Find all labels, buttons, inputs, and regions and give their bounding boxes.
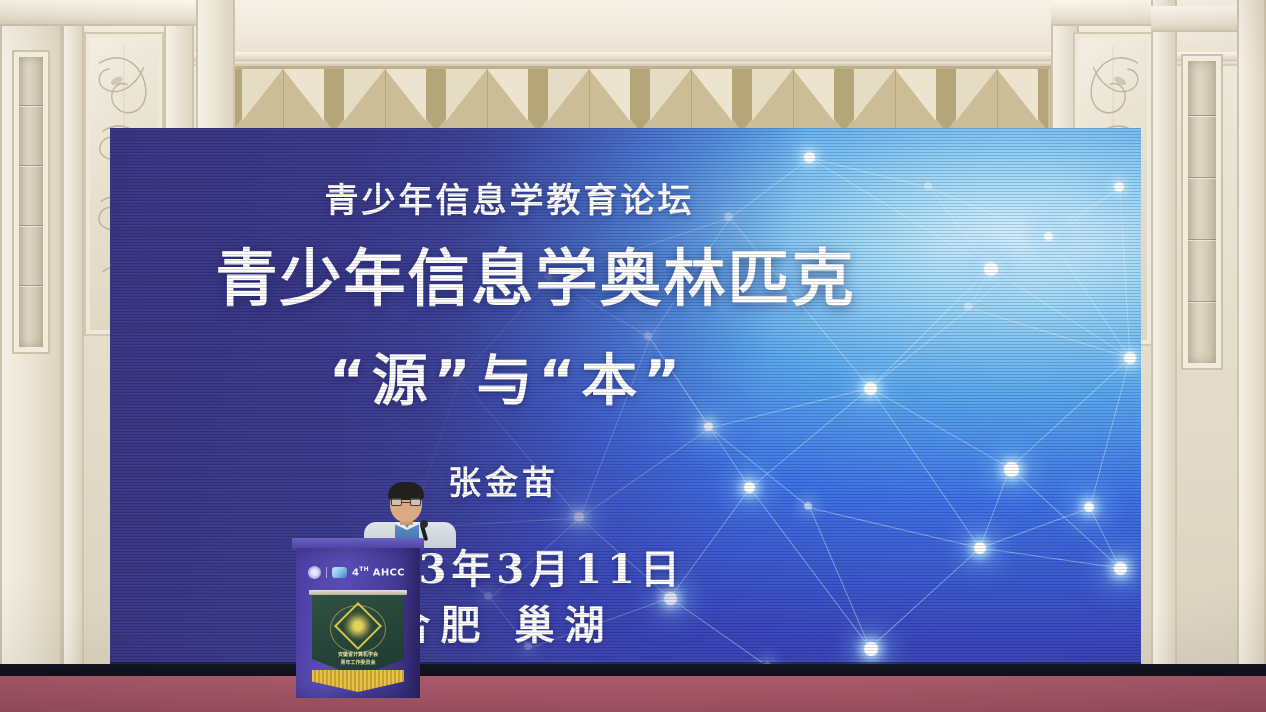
ahcc-edition-suffix: TH <box>359 566 369 573</box>
right-wall-niche <box>1183 56 1221 368</box>
led-presentation-screen: 青少年信息学教育论坛 青少年信息学奥林匹克 “源”与“本” 张金苗 2023年3… <box>110 128 1141 678</box>
slide-subtitle-line: “源”与“本” <box>110 354 1023 410</box>
society-emblem-icon <box>308 566 321 579</box>
ahcc-badge-icon <box>332 567 347 578</box>
society-pennant-banner: 安徽省计算机学会 青年工作委员会 <box>312 590 404 698</box>
slide-speaker-name: 张金苗 <box>110 466 1019 499</box>
pennant-org-line-2: 青年工作委员会 <box>321 661 395 665</box>
pennant-cloth: 安徽省计算机学会 青年工作委员会 <box>312 595 404 677</box>
podium-conference-label: 4TH AHCC <box>352 566 405 578</box>
slide-title-line: 青少年信息学奥林匹克 <box>110 248 1051 310</box>
slide-text-block: 青少年信息学教育论坛 青少年信息学奥林匹克 “源”与“本” 张金苗 2023年3… <box>110 128 1141 678</box>
slide-location-line: 合肥 巢湖 <box>110 606 1018 646</box>
speaker-podium: 4TH AHCC 安徽省计算机学会 青年工作委员会 <box>296 538 420 698</box>
chevron-relief-wall <box>232 66 1052 128</box>
conference-stage-photo: 青少年信息学教育论坛 青少年信息学奥林匹克 “源”与“本” 张金苗 2023年3… <box>0 0 1266 712</box>
slide-forum-line: 青少年信息学教育论坛 <box>110 184 1025 218</box>
pennant-org-line-1: 安徽省计算机学会 <box>321 653 395 657</box>
logo-divider <box>326 567 327 578</box>
slide-date-line: 2023年3月11日 <box>110 550 1018 590</box>
stage-floor <box>0 676 1266 712</box>
presenter <box>362 482 458 546</box>
podium-front-panel: 4TH AHCC 安徽省计算机学会 青年工作委员会 <box>296 548 420 698</box>
pennant-gold-fringe <box>312 670 404 692</box>
eyeglasses-icon <box>391 498 421 506</box>
left-wall-niche <box>14 52 48 352</box>
microphone-head-icon <box>420 520 428 528</box>
pennant-rod <box>309 590 407 595</box>
podium-logo-row: 4TH AHCC <box>308 564 408 580</box>
ahcc-code: AHCC <box>373 567 405 578</box>
